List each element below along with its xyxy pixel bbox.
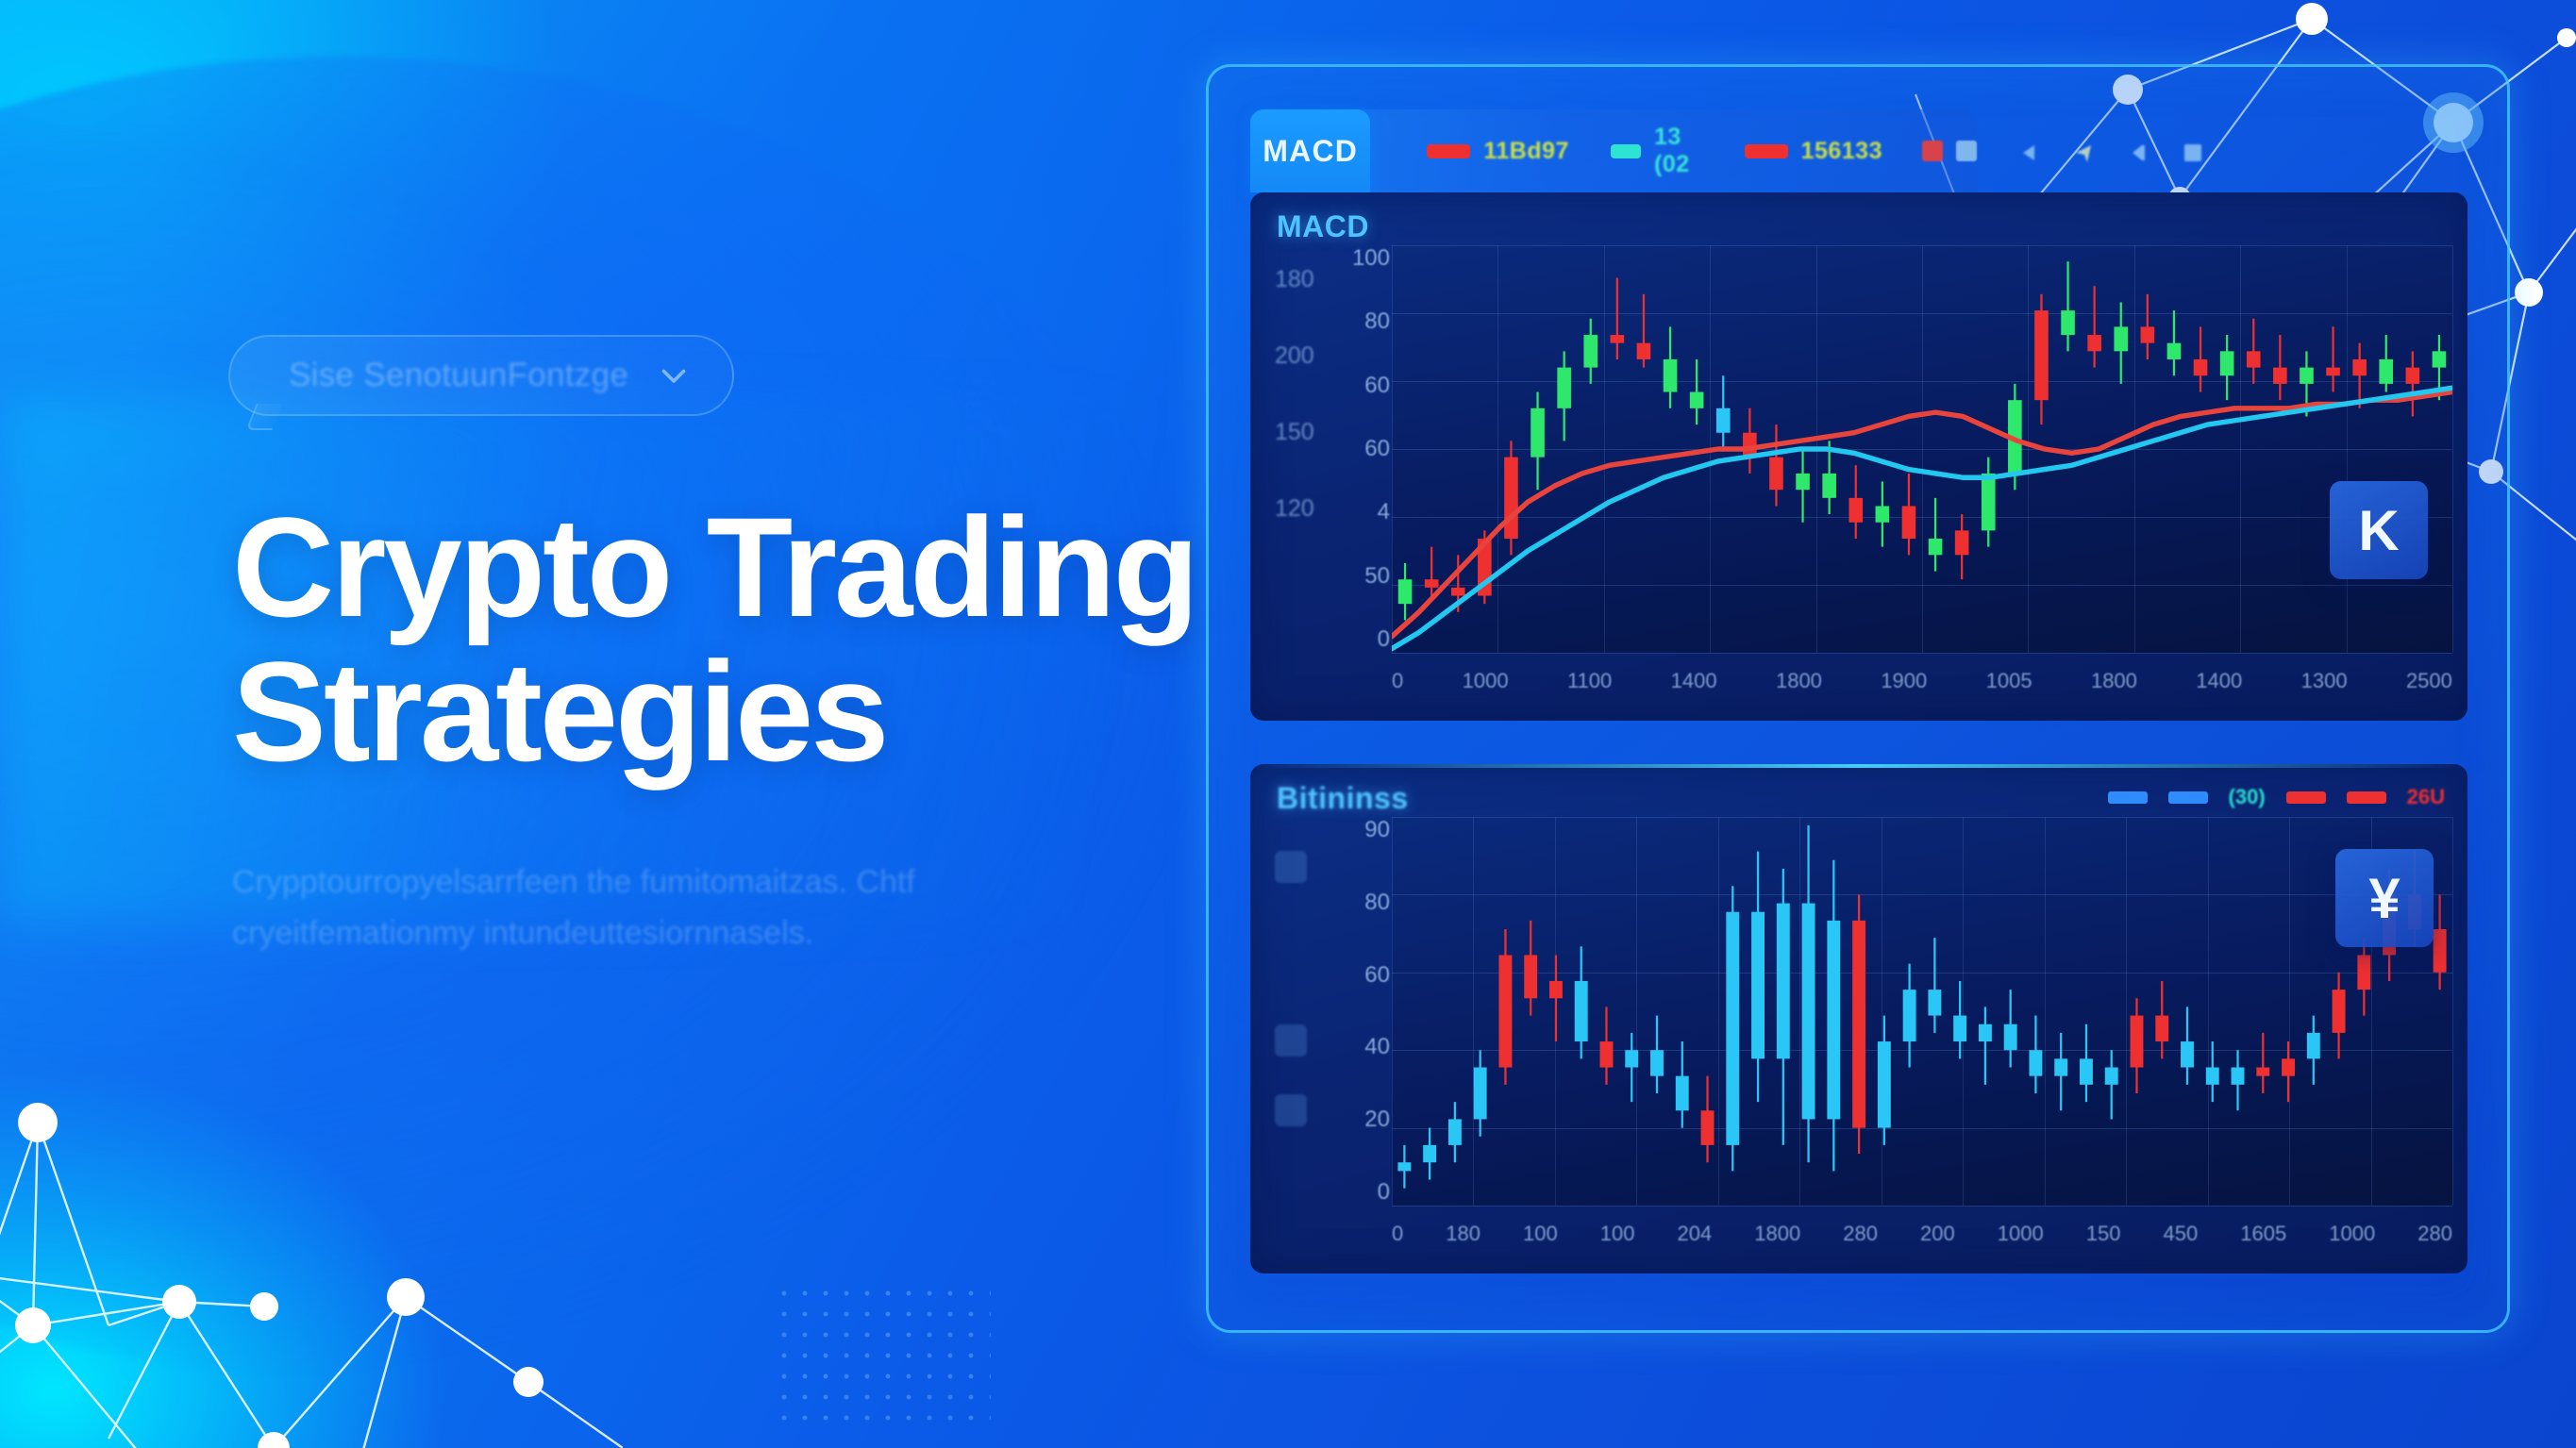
- y-tick-label: 40: [1364, 1034, 1390, 1060]
- toolbar-right-controls: [2017, 141, 2204, 164]
- x-tick-label: 1000: [1463, 669, 1509, 693]
- play-back-icon[interactable]: [2017, 141, 2040, 164]
- x-tick-label: 450: [2164, 1222, 2199, 1246]
- x-tick-label: 0: [1392, 669, 1403, 693]
- grid-icon[interactable]: [2182, 141, 2204, 164]
- page-title-line-1: Crypto Trading: [232, 488, 1196, 646]
- macd-badge: K: [2330, 481, 2428, 579]
- bitcoin-candlestick-svg: [1392, 817, 2452, 1206]
- chart-toolbar: MACD 11Bd97 13 (02 156133: [1250, 109, 1977, 192]
- legend-value-red: 26U: [2407, 785, 2445, 809]
- x-tick-label: 280: [1843, 1222, 1878, 1246]
- legend-value-cyan: (30): [2229, 785, 2266, 809]
- bitcoin-plot-area[interactable]: [1392, 817, 2452, 1206]
- x-tick-label: 1300: [2301, 669, 2348, 693]
- macd-side-value: 120: [1275, 495, 1314, 523]
- bitcoin-panel-title: Bitininss: [1277, 781, 1409, 816]
- bitcoin-x-axis: 0180100100204180028020010001504501605100…: [1392, 1217, 2452, 1251]
- x-tick-label: 1005: [1986, 669, 2032, 693]
- grid-line-vertical: [2452, 245, 2453, 653]
- x-tick-label: 150: [2086, 1222, 2121, 1246]
- grid-line-horizontal: [1392, 653, 2452, 654]
- x-tick-label: 204: [1678, 1222, 1713, 1246]
- x-tick-label: 200: [1920, 1222, 1955, 1246]
- toolbar-legend-item[interactable]: 11Bd97: [1427, 138, 1569, 165]
- undo-icon[interactable]: [2127, 141, 2149, 164]
- macd-side-value: 180: [1275, 266, 1314, 293]
- legend-value-2: 13 (02: [1654, 124, 1703, 178]
- x-tick-label: 1900: [1881, 669, 1927, 693]
- macd-side-values: 180 200 150 120: [1275, 266, 1314, 523]
- legend-swatch-red-1: [1427, 144, 1470, 158]
- legend-swatch-blue-2: [2168, 791, 2208, 804]
- bitcoin-badge: ¥: [2335, 849, 2434, 947]
- tab-macd[interactable]: MACD: [1250, 109, 1370, 192]
- record-icon[interactable]: [1922, 141, 1943, 161]
- legend-swatch-cyan: [1611, 144, 1641, 158]
- macd-panel-title: MACD: [1277, 209, 1369, 244]
- y-tick-label: 60: [1364, 373, 1390, 399]
- x-tick-label: 1800: [1754, 1222, 1800, 1246]
- toolbar-legend-item[interactable]: 156133: [1745, 138, 1882, 165]
- legend-value-1: 11Bd97: [1483, 138, 1569, 165]
- sidebar-decor-icon-3: [1275, 1094, 1307, 1126]
- y-tick-label: 80: [1364, 308, 1390, 335]
- macd-side-value: 150: [1275, 419, 1314, 446]
- page-subtitle: Crypptourropyelsarrfeen the fumitomaitza…: [232, 857, 1081, 958]
- x-tick-label: 280: [2417, 1222, 2452, 1246]
- dot-grid-decoration: [774, 1283, 991, 1429]
- macd-chart-panel: MACD 180 200 150 120 1008060604500 01000…: [1250, 192, 2467, 721]
- bitcoin-y-axis: 90806040200: [1337, 817, 1390, 1206]
- y-tick-label: 0: [1378, 1179, 1390, 1206]
- legend-value-3: 156133: [1801, 138, 1882, 165]
- sidebar-decor-icon-1: [1275, 851, 1307, 883]
- legend-swatch-red-2: [2347, 791, 2386, 804]
- y-tick-label: 90: [1364, 817, 1390, 843]
- y-tick-label: 80: [1364, 890, 1390, 916]
- y-tick-label: 4: [1378, 499, 1390, 525]
- x-tick-label: 1000: [2329, 1222, 2375, 1246]
- y-tick-label: 20: [1364, 1107, 1390, 1133]
- hero-badge-label: Sise SenotuunFontzge: [289, 357, 628, 394]
- x-tick-label: 1800: [2091, 669, 2137, 693]
- x-tick-label: 1000: [1998, 1222, 2044, 1246]
- macd-plot-area[interactable]: [1392, 245, 2452, 653]
- bitcoin-legend-group: (30) 26U: [2108, 785, 2445, 809]
- x-tick-label: 100: [1523, 1222, 1558, 1246]
- page-subtitle-line-2: cryeitfemationmy intundeuttesiornnasels.: [232, 908, 1081, 959]
- bitcoin-chart-panel: Bitininss (30) 26U 90806040200 018010010…: [1250, 764, 2467, 1273]
- grid-line-vertical: [2452, 817, 2453, 1206]
- share-icon[interactable]: [2072, 141, 2095, 164]
- x-tick-label: 0: [1392, 1222, 1403, 1246]
- toolbar-legend-item[interactable]: 13 (02: [1611, 124, 1703, 178]
- chevron-down-icon: [657, 358, 691, 392]
- y-tick-label: 60: [1364, 962, 1390, 989]
- legend-swatch-blue-1: [2108, 791, 2148, 804]
- y-tick-label: 50: [1364, 563, 1390, 590]
- macd-x-axis: 0100011001400180019001005180014001300250…: [1392, 664, 2452, 698]
- sidebar-decor-icon-2: [1275, 1024, 1307, 1057]
- y-tick-label: 100: [1352, 245, 1390, 272]
- toolbar-legend-group: 11Bd97 13 (02 156133: [1427, 124, 1882, 178]
- y-tick-label: 60: [1364, 436, 1390, 462]
- x-tick-label: 1100: [1567, 669, 1612, 693]
- stop-icon[interactable]: [1956, 141, 1977, 161]
- x-tick-label: 1800: [1776, 669, 1822, 693]
- legend-swatch-red-1: [2286, 791, 2326, 804]
- toolbar-mini-icon-group: [1922, 141, 1977, 161]
- page-subtitle-line-1: Crypptourropyelsarrfeen the fumitomaitza…: [232, 857, 1081, 908]
- legend-swatch-red-2: [1745, 144, 1788, 158]
- x-tick-label: 2500: [2406, 669, 2452, 693]
- macd-candlestick-svg: [1392, 245, 2452, 653]
- x-tick-label: 1605: [2240, 1222, 2286, 1246]
- x-tick-label: 180: [1446, 1222, 1480, 1246]
- panel-top-glow: [1250, 764, 2467, 768]
- x-tick-label: 1400: [1671, 669, 1717, 693]
- macd-y-axis: 1008060604500: [1337, 245, 1390, 653]
- grid-line-horizontal: [1392, 1206, 2452, 1207]
- x-tick-label: 1400: [2196, 669, 2242, 693]
- hero-badge-dropdown[interactable]: Sise SenotuunFontzge: [228, 335, 734, 416]
- macd-side-value: 200: [1275, 342, 1314, 370]
- y-tick-label: 0: [1378, 626, 1390, 653]
- x-tick-label: 100: [1600, 1222, 1635, 1246]
